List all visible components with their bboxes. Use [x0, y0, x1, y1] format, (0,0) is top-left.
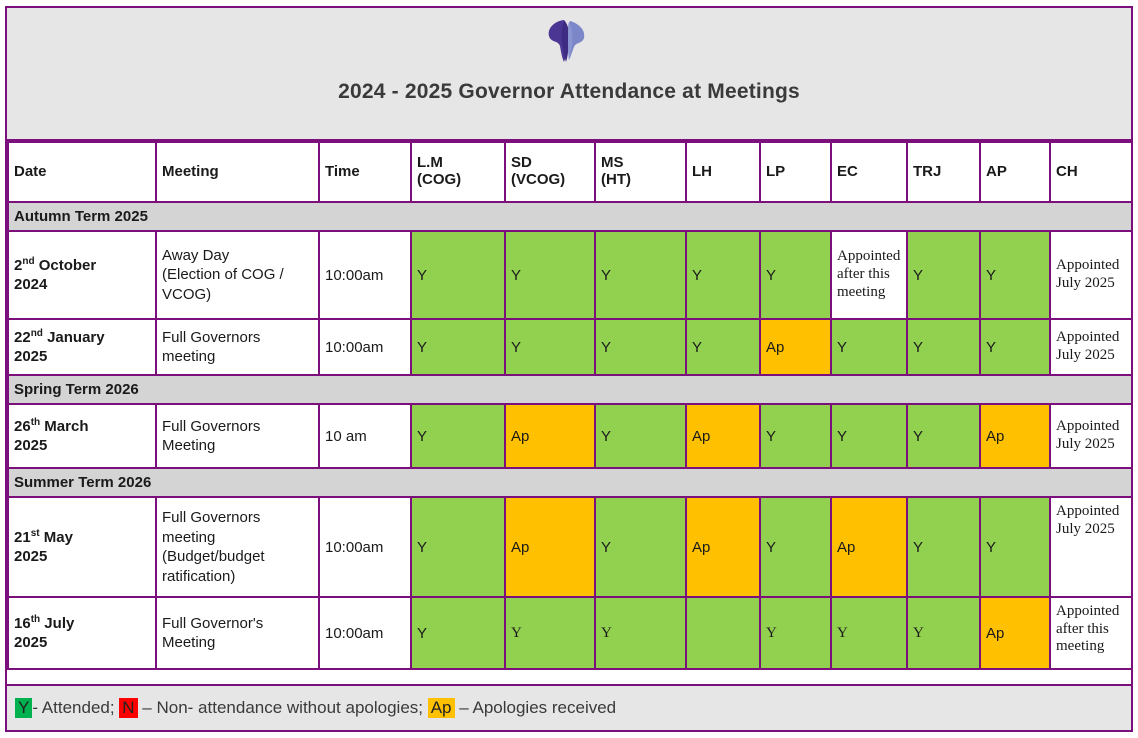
date-month: July	[40, 615, 74, 632]
meeting-line: Away Day	[162, 247, 229, 264]
date-year: 2025	[14, 437, 47, 454]
header-line: (COG)	[417, 171, 461, 188]
term-label: Autumn Term 2025	[8, 202, 1132, 231]
meeting-name-cell: Full Governor'sMeeting	[156, 597, 319, 669]
attendance-cell-apologies: Ap	[980, 597, 1050, 669]
meeting-line: (Election of COG /	[162, 266, 284, 283]
table-row: 26th March2025Full GovernorsMeeting10 am…	[8, 404, 1132, 468]
legend-attended-text: - Attended;	[32, 698, 119, 718]
attendance-cell-note: Appointed July 2025	[1050, 404, 1132, 468]
header-line: EC	[837, 163, 858, 180]
meeting-line: meeting	[162, 348, 215, 365]
meeting-line: Full Governors	[162, 329, 260, 346]
table-row: 16th July2025Full Governor'sMeeting10:00…	[8, 597, 1132, 669]
attendance-cell-apologies: Ap	[831, 497, 907, 597]
table-row: 2nd October2024Away Day(Election of COG …	[8, 231, 1132, 319]
attendance-cell-attended: Y	[907, 319, 980, 375]
legend-bar: Y- Attended; N – Non- attendance without…	[7, 684, 1131, 730]
attendance-table-wrap: Date Meeting Time L.M(COG) SD(VCOG) MS(H…	[7, 141, 1131, 684]
date-ordinal: nd	[22, 256, 34, 267]
meeting-line: Meeting	[162, 634, 215, 651]
meeting-line: (Budget/budget	[162, 548, 265, 565]
attendance-cell-attended: Y	[411, 404, 505, 468]
date-day: 22	[14, 329, 31, 346]
attendance-cell-attended: Y	[686, 319, 760, 375]
meeting-time-cell: 10:00am	[319, 497, 411, 597]
meeting-line: Full Governors	[162, 509, 260, 526]
header-line: L.M	[417, 154, 443, 171]
date-day: 21	[14, 529, 31, 546]
meeting-date-cell: 21st May2025	[8, 497, 156, 597]
attendance-cell-apologies: Ap	[505, 404, 595, 468]
header-line: MS	[601, 154, 624, 171]
header-line: Time	[325, 163, 360, 180]
attendance-cell-attended: Y	[760, 231, 831, 319]
header-line: (HT)	[601, 171, 631, 188]
legend-nonattendance-text: – Non- attendance without apologies;	[138, 698, 428, 718]
meeting-date-cell: 22nd January2025	[8, 319, 156, 375]
table-header: Date Meeting Time L.M(COG) SD(VCOG) MS(H…	[8, 142, 1132, 202]
table-row: 22nd January2025Full Governorsmeeting10:…	[8, 319, 1132, 375]
attendance-cell-attended: Y	[907, 231, 980, 319]
legend-apologies-text: – Apologies received	[455, 698, 617, 718]
meeting-line: ratification)	[162, 568, 235, 585]
meeting-name-cell: Full Governorsmeeting	[156, 319, 319, 375]
legend-attended-badge: Y	[15, 698, 32, 719]
attendance-cell-attended: Y	[411, 319, 505, 375]
meeting-line: VCOG)	[162, 286, 211, 303]
col-header-ec: EC	[831, 142, 907, 202]
page-root: 2024 - 2025 Governor Attendance at Meeti…	[0, 0, 1138, 738]
meeting-time-cell: 10:00am	[319, 231, 411, 319]
attendance-cell-apologies: Ap	[686, 404, 760, 468]
legend-apologies-badge: Ap	[428, 698, 455, 719]
attendance-cell-attended: Y	[831, 404, 907, 468]
attendance-cell-attended: Y	[760, 597, 831, 669]
attendance-cell-attended: Y	[760, 497, 831, 597]
attendance-cell-attended: Y	[907, 497, 980, 597]
meeting-line: Full Governors	[162, 418, 260, 435]
attendance-cell-attended: Y	[831, 319, 907, 375]
date-year: 2025	[14, 548, 47, 565]
date-month: May	[40, 529, 73, 546]
attendance-cell-attended: Y	[505, 597, 595, 669]
col-header-lh: LH	[686, 142, 760, 202]
meeting-line: Full Governor's	[162, 615, 263, 632]
date-day: 26	[14, 418, 31, 435]
attendance-cell-apologies: Ap	[980, 404, 1050, 468]
date-month: October	[35, 257, 97, 274]
col-header-trj: TRJ	[907, 142, 980, 202]
col-header-lm: L.M(COG)	[411, 142, 505, 202]
term-section-row: Summer Term 2026	[8, 468, 1132, 497]
meeting-name-cell: Away Day(Election of COG /VCOG)	[156, 231, 319, 319]
header-line: Meeting	[162, 163, 219, 180]
col-header-sd: SD(VCOG)	[505, 142, 595, 202]
date-ordinal: st	[31, 528, 40, 539]
col-header-lp: LP	[760, 142, 831, 202]
meeting-line: meeting	[162, 529, 215, 546]
date-month: January	[43, 329, 105, 346]
date-ordinal: nd	[31, 328, 43, 339]
attendance-cell-attended: Y	[595, 319, 686, 375]
header-line: LH	[692, 163, 712, 180]
attendance-cell-attended: Y	[595, 404, 686, 468]
attendance-cell-note: Appointed July 2025	[1050, 319, 1132, 375]
attendance-cell-attended: Y	[595, 231, 686, 319]
header-row: Date Meeting Time L.M(COG) SD(VCOG) MS(H…	[8, 142, 1132, 202]
attendance-cell-attended: Y	[980, 319, 1050, 375]
page-title: 2024 - 2025 Governor Attendance at Meeti…	[338, 80, 800, 104]
meeting-time-cell: 10:00am	[319, 319, 411, 375]
attendance-cell-note: Appointed after this meeting	[1050, 597, 1132, 669]
attendance-cell-attended: Y	[907, 597, 980, 669]
attendance-cell-attended: Y	[505, 319, 595, 375]
attendance-cell-note: Appointed after this meeting	[831, 231, 907, 319]
attendance-cell-attended: Y	[411, 231, 505, 319]
attendance-cell-attended: Y	[980, 497, 1050, 597]
attendance-cell-attended: Y	[505, 231, 595, 319]
date-year: 2025	[14, 348, 47, 365]
meeting-date-cell: 26th March2025	[8, 404, 156, 468]
attendance-cell-note: Appointed July 2025	[1050, 231, 1132, 319]
attendance-cell-attended: Y	[686, 231, 760, 319]
date-day: 16	[14, 615, 31, 632]
attendance-cell-apologies: Ap	[686, 497, 760, 597]
term-section-row: Spring Term 2026	[8, 375, 1132, 404]
attendance-cell-note: Appointed July 2025	[1050, 497, 1132, 597]
legend-nonattendance-badge: N	[119, 698, 137, 719]
attendance-cell-attended: Y	[411, 497, 505, 597]
col-header-ms: MS(HT)	[595, 142, 686, 202]
attendance-cell-apologies: Ap	[760, 319, 831, 375]
attendance-table: Date Meeting Time L.M(COG) SD(VCOG) MS(H…	[7, 141, 1133, 670]
attendance-document: 2024 - 2025 Governor Attendance at Meeti…	[5, 6, 1133, 732]
meeting-date-cell: 16th July2025	[8, 597, 156, 669]
header-line: (VCOG)	[511, 171, 565, 188]
header-line: CH	[1056, 163, 1078, 180]
term-label: Summer Term 2026	[8, 468, 1132, 497]
col-header-date: Date	[8, 142, 156, 202]
col-header-time: Time	[319, 142, 411, 202]
col-header-meeting: Meeting	[156, 142, 319, 202]
col-header-ch: CH	[1050, 142, 1132, 202]
meeting-line: Meeting	[162, 437, 215, 454]
meeting-time-cell: 10:00am	[319, 597, 411, 669]
header-line: TRJ	[913, 163, 941, 180]
table-body: Autumn Term 20252nd October2024Away Day(…	[8, 202, 1132, 669]
attendance-cell-attended: Y	[760, 404, 831, 468]
attendance-cell-apologies: Ap	[505, 497, 595, 597]
header-line: SD	[511, 154, 532, 171]
header-line: Date	[14, 163, 47, 180]
date-ordinal: th	[31, 614, 40, 625]
attendance-cell-attended: Y	[980, 231, 1050, 319]
date-year: 2024	[14, 276, 47, 293]
col-header-ap: AP	[980, 142, 1050, 202]
attendance-cell-attended	[686, 597, 760, 669]
date-year: 2025	[14, 634, 47, 651]
meeting-time-cell: 10 am	[319, 404, 411, 468]
attendance-cell-attended: Y	[595, 597, 686, 669]
meeting-name-cell: Full Governorsmeeting(Budget/budgetratif…	[156, 497, 319, 597]
date-ordinal: th	[31, 417, 40, 428]
date-month: March	[40, 418, 88, 435]
meeting-name-cell: Full GovernorsMeeting	[156, 404, 319, 468]
header-line: AP	[986, 163, 1007, 180]
table-row: 21st May2025Full Governorsmeeting(Budget…	[8, 497, 1132, 597]
attendance-cell-attended: Y	[595, 497, 686, 597]
meeting-date-cell: 2nd October2024	[8, 231, 156, 319]
term-label: Spring Term 2026	[8, 375, 1132, 404]
document-banner: 2024 - 2025 Governor Attendance at Meeti…	[7, 8, 1131, 141]
header-line: LP	[766, 163, 785, 180]
attendance-cell-attended: Y	[831, 597, 907, 669]
attendance-cell-attended: Y	[411, 597, 505, 669]
bluebell-flower-logo-icon	[534, 16, 604, 64]
term-section-row: Autumn Term 2025	[8, 202, 1132, 231]
attendance-cell-attended: Y	[907, 404, 980, 468]
